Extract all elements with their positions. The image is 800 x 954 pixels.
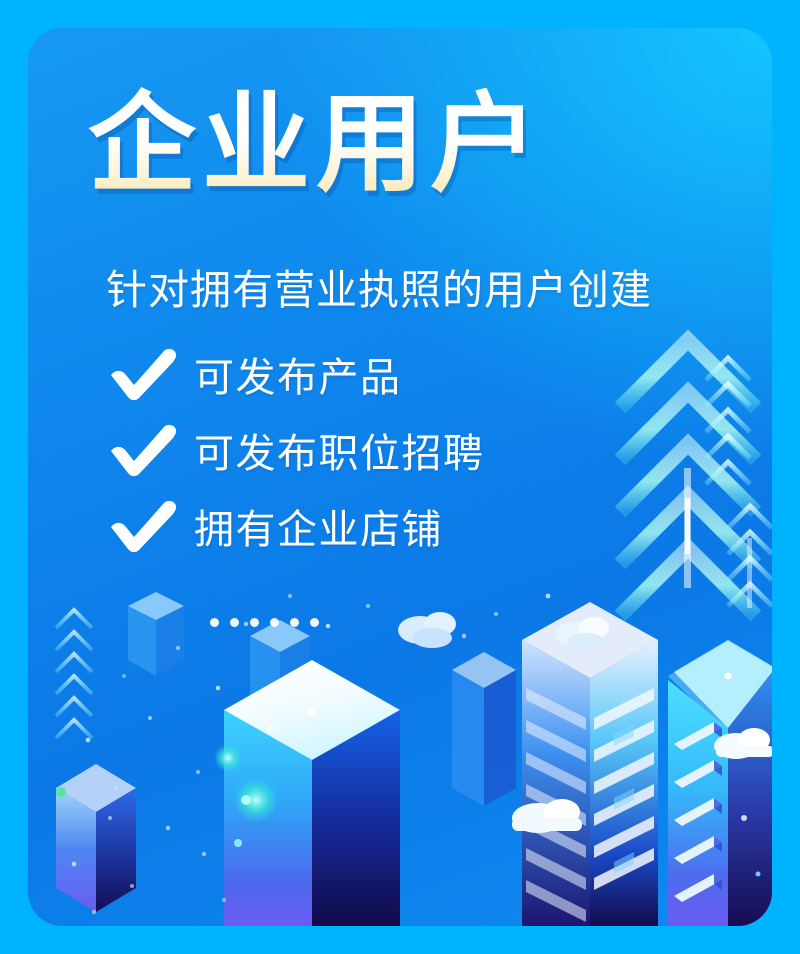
feature-list: 可发布产品 可发布职位招聘 拥有企业店铺 xyxy=(106,340,485,568)
feature-item-label: 可发布职位招聘 xyxy=(194,421,485,479)
neon-stripe-fan-cyan-left xyxy=(426,668,450,888)
check-icon xyxy=(106,499,180,553)
feature-item-enterprise-store: 拥有企业店铺 xyxy=(106,492,485,560)
check-icon xyxy=(106,423,180,477)
check-icon xyxy=(106,347,180,401)
feature-item-publish-products: 可发布产品 xyxy=(106,340,485,408)
ellipsis-dot xyxy=(290,618,299,627)
page-title: 企业用户 xyxy=(88,86,544,203)
ellipsis-dot xyxy=(310,618,319,627)
floating-cube-upper xyxy=(128,592,184,676)
feature-item-label: 可发布产品 xyxy=(194,345,402,403)
feature-item-publish-jobs: 可发布职位招聘 xyxy=(106,416,485,484)
page-subtitle: 针对拥有营业执照的用户创建 xyxy=(106,256,652,316)
more-features-ellipsis xyxy=(210,618,319,627)
ellipsis-dot xyxy=(230,618,239,627)
ellipsis-dot xyxy=(270,618,279,627)
ellipsis-dot xyxy=(250,618,259,627)
chevron-arrow-stack-small-left xyxy=(56,610,92,738)
ellipsis-dot xyxy=(210,618,219,627)
tower-central-glowing-top xyxy=(214,660,400,926)
cloud-top xyxy=(398,612,456,648)
tower-small-left xyxy=(56,764,136,912)
banner-card: 企业用户 针对拥有营业执照的用户创建 可发布产品 可发布职位招聘 拥有企业店铺 xyxy=(28,28,772,926)
tower-slot-windows xyxy=(668,640,772,926)
enterprise-user-banner: 企业用户 针对拥有营业执照的用户创建 可发布产品 可发布职位招聘 拥有企业店铺 xyxy=(0,0,800,954)
tower-small-mid xyxy=(452,652,516,806)
feature-item-label: 拥有企业店铺 xyxy=(194,497,443,555)
